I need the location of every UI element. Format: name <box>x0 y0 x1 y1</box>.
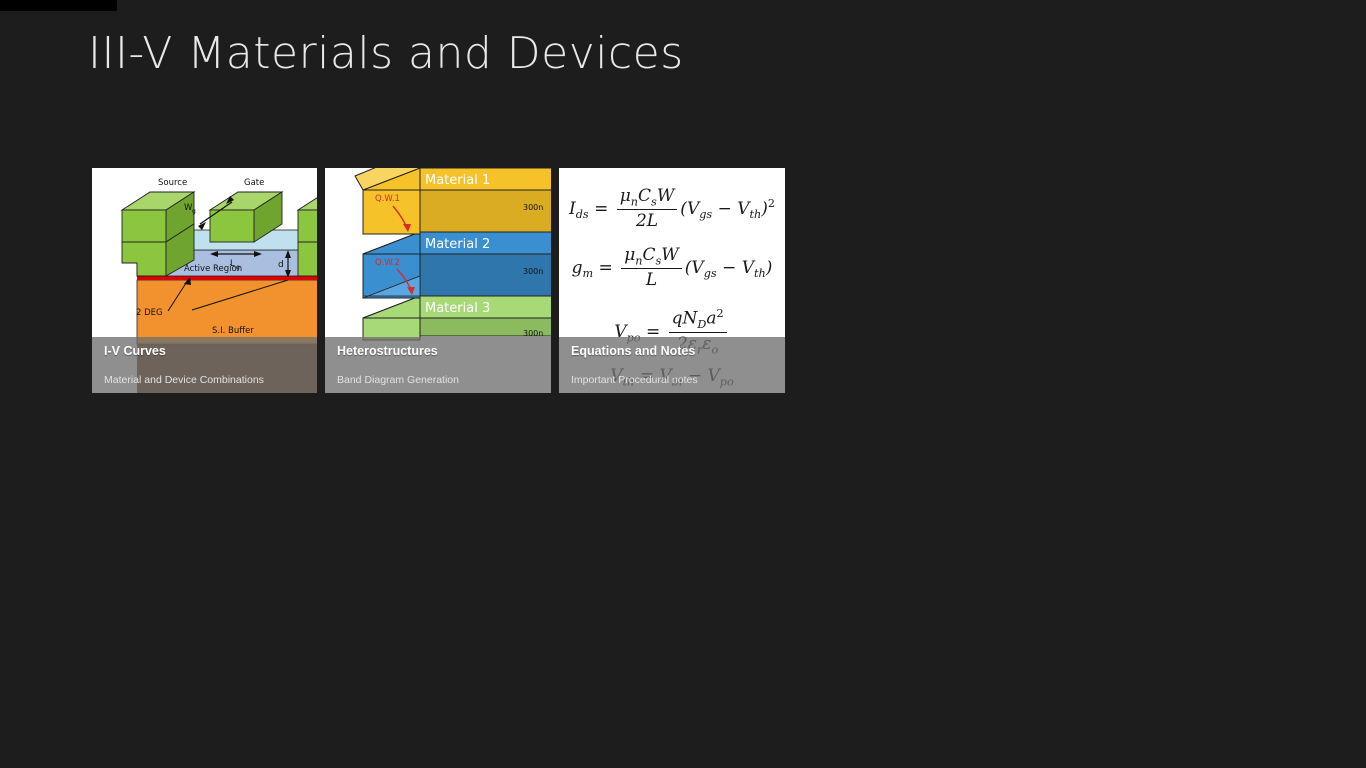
svg-text:Source: Source <box>158 178 187 188</box>
equation-gm: gm = μnCsWL(Vgs − Vth) <box>569 245 775 292</box>
svg-text:2 DEG: 2 DEG <box>136 308 163 318</box>
corner-accent-bar <box>0 0 117 11</box>
svg-text:Material 1: Material 1 <box>425 173 490 188</box>
card-title: Heterostructures <box>337 343 539 359</box>
svg-text:g: g <box>192 208 196 215</box>
svg-text:Active Region: Active Region <box>184 264 242 274</box>
page-title: III-V Materials and Devices <box>88 28 684 79</box>
svg-text:Q.W.2: Q.W.2 <box>375 258 400 268</box>
card-subtitle: Material and Device Combinations <box>104 374 264 387</box>
svg-text:S.I. Buffer: S.I. Buffer <box>212 326 254 336</box>
card-subtitle: Band Diagram Generation <box>337 374 459 387</box>
card-caption-equations-and-notes: Equations and Notes Important Procedural… <box>559 337 785 393</box>
card-subtitle: Important Procedural notes <box>571 374 698 387</box>
svg-text:300n: 300n <box>523 267 543 276</box>
svg-text:Gate: Gate <box>244 178 264 188</box>
equation-ids: Ids = μnCsW2L(Vgs − Vth)2 <box>569 186 775 233</box>
card-title: Equations and Notes <box>571 343 773 359</box>
card-caption-iv-curves: I-V Curves Material and Device Combinati… <box>92 337 317 393</box>
svg-text:300n: 300n <box>523 203 543 212</box>
card-title: I-V Curves <box>104 343 305 359</box>
card-iv-curves[interactable]: Source Gate W g L g d Active Region 2 DE… <box>92 168 317 393</box>
card-heterostructures[interactable]: Material 1 Material 2 Material 3 300n 30… <box>325 168 551 393</box>
svg-text:Q.W.1: Q.W.1 <box>375 194 400 204</box>
svg-text:d: d <box>278 260 284 270</box>
card-equations-and-notes[interactable]: Ids = μnCsW2L(Vgs − Vth)2 gm = μnCsWL(Vg… <box>559 168 785 393</box>
card-strip: Source Gate W g L g d Active Region 2 DE… <box>92 168 785 393</box>
card-caption-heterostructures: Heterostructures Band Diagram Generation <box>325 337 551 393</box>
slide-canvas: III-V Materials and Devices <box>0 0 1366 768</box>
svg-text:Material 3: Material 3 <box>425 301 490 316</box>
svg-text:Material 2: Material 2 <box>425 237 490 252</box>
